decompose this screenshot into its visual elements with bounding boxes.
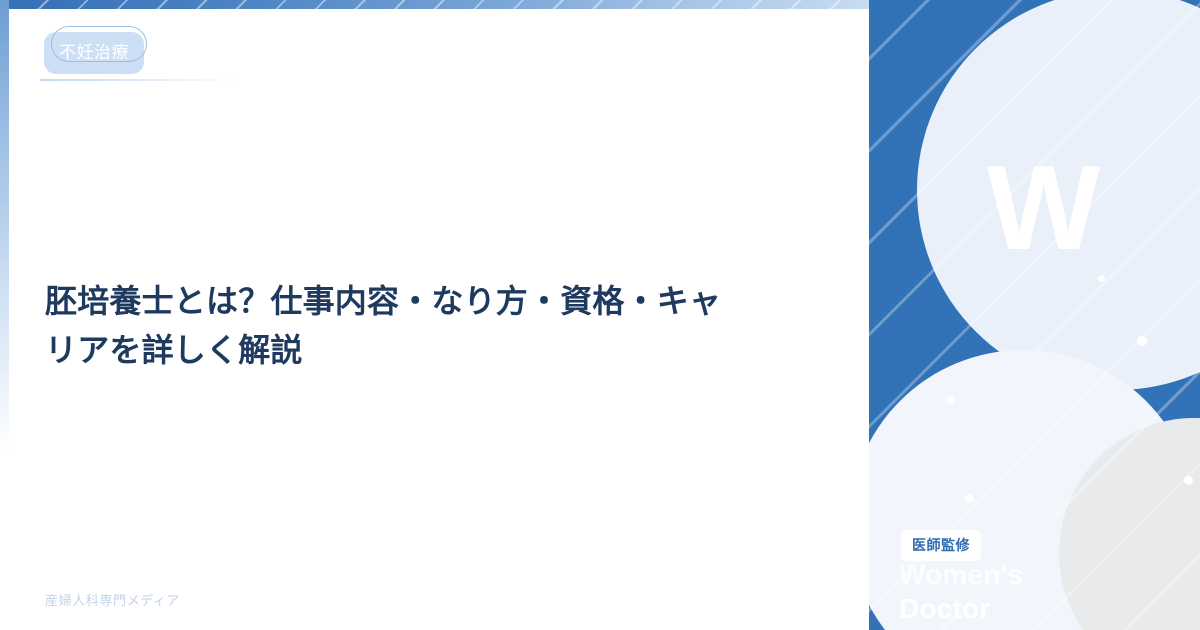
category-badge[interactable]: 不妊治療 xyxy=(44,26,154,74)
doctor-supervised-badge: 医師監修 xyxy=(901,530,981,561)
badge-divider xyxy=(40,79,238,81)
brand-logotype: Women's Doctor xyxy=(899,558,1023,626)
decorative-dot xyxy=(1137,336,1147,346)
brand-logotype-line-1: Women's xyxy=(899,558,1023,592)
og-image-card: 不妊治療 胚培養士とは？仕事内容・なり方・資格・キャリアを詳しく解説 産婦人科専… xyxy=(0,0,1200,630)
brand-watermark-letter: W xyxy=(987,148,1098,268)
decorative-dot xyxy=(1184,476,1193,485)
brand-logotype-line-2: Doctor xyxy=(899,592,1023,626)
decorative-dot xyxy=(947,396,955,404)
decorative-dot xyxy=(1098,275,1105,282)
category-badge-label: 不妊治療 xyxy=(44,32,144,74)
content-pane: 不妊治療 胚培養士とは？仕事内容・なり方・資格・キャリアを詳しく解説 産婦人科専… xyxy=(0,0,869,630)
left-gradient-strip xyxy=(0,0,9,630)
brand-pane: W 医師監修 Women's Doctor xyxy=(869,0,1200,630)
page-title: 胚培養士とは？仕事内容・なり方・資格・キャリアを詳しく解説 xyxy=(45,277,745,374)
top-bar-stripe-overlay xyxy=(0,0,869,9)
media-name-label: 産婦人科専門メディア xyxy=(45,590,180,609)
decorative-dot xyxy=(965,494,974,503)
